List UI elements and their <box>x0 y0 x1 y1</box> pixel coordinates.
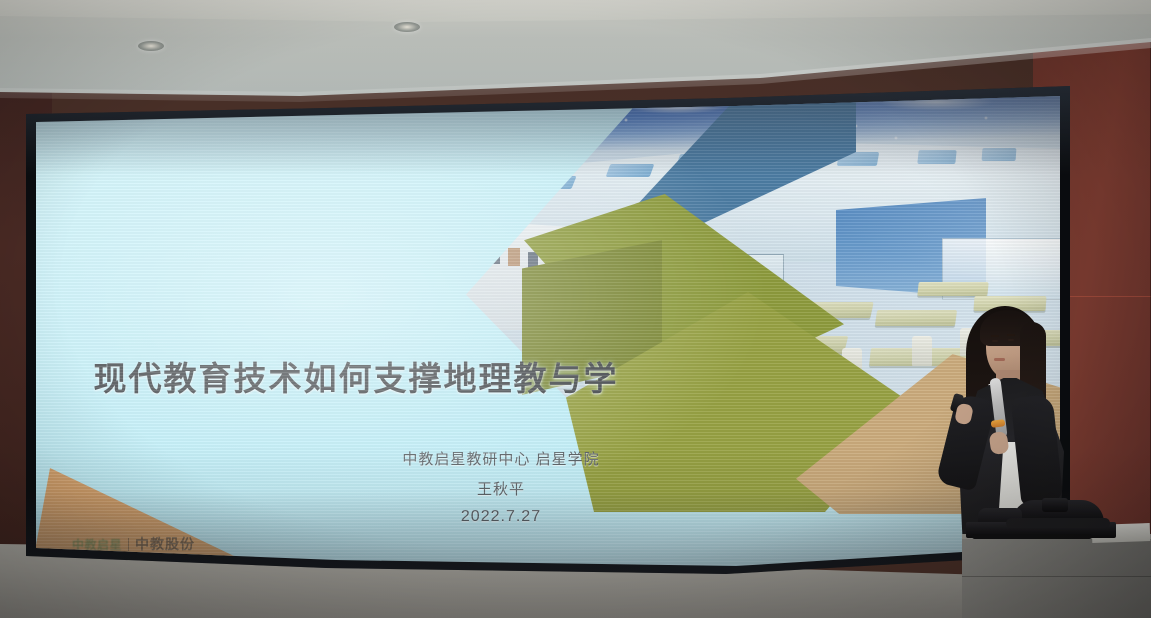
presenter-eyebrow <box>1007 334 1015 336</box>
logo-brand-text: 中教股份 <box>135 534 195 554</box>
logo-divider <box>128 538 129 551</box>
projection-screen[interactable]: 现代教育技术如何支撑地理教与学 中教启星教研中心 启星学院 王秋平 2022.7… <box>36 96 1060 570</box>
av-podium <box>962 534 1151 618</box>
speaker-dome-lip <box>1006 518 1110 528</box>
slide-presenter-name: 王秋平 <box>336 478 666 499</box>
slide-title: 现代教育技术如何支撑地理教与学 <box>36 352 676 400</box>
presenter-eye <box>992 340 998 342</box>
av-small-module <box>1042 498 1068 512</box>
presenter-eye <box>1008 339 1014 341</box>
slide-date: 2022.7.27 <box>336 508 666 526</box>
slide-organization: 中教启星教研中心 启星学院 <box>336 448 666 469</box>
lecture-room-scene: 现代教育技术如何支撑地理教与学 中教启星教研中心 启星学院 王秋平 2022.7… <box>0 0 1151 618</box>
ceiling-downlight-icon <box>394 22 420 32</box>
presenter-mouth <box>994 358 1005 361</box>
ceiling-downlight-icon <box>138 41 164 51</box>
presenter-eyebrow <box>991 335 999 337</box>
presentation-slide: 现代教育技术如何支撑地理教与学 中教启星教研中心 启星学院 王秋平 2022.7… <box>36 96 1060 570</box>
av-cable <box>972 534 1092 539</box>
podium-seam <box>962 576 1151 577</box>
